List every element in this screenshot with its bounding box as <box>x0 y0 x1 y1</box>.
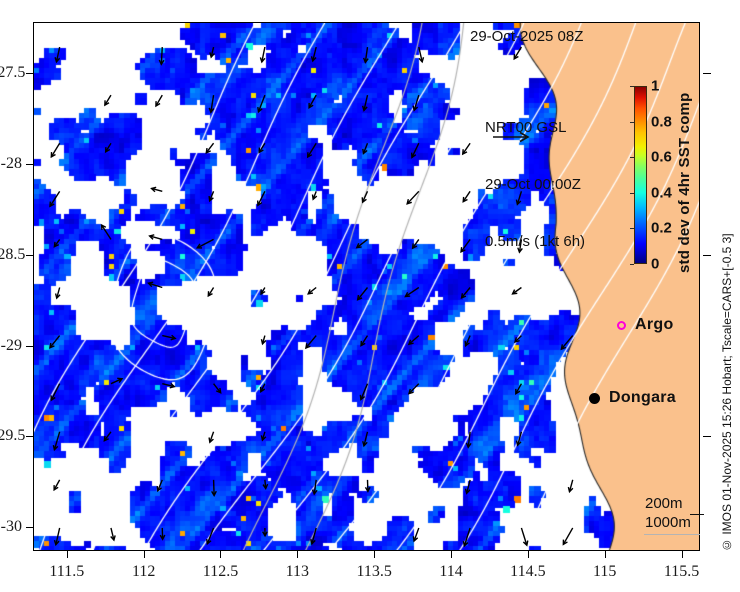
current-vector <box>312 47 317 61</box>
colorbar-tick-label: 1 <box>651 78 659 95</box>
x-tick-label: 115.5 <box>664 563 699 581</box>
x-tick <box>144 551 145 558</box>
x-tick <box>605 551 606 558</box>
current-vector <box>363 143 368 153</box>
current-vector <box>357 239 368 247</box>
current-vector <box>157 480 162 491</box>
current-vector <box>160 528 165 539</box>
colorbar-gradient <box>634 86 647 264</box>
current-vector <box>104 432 111 441</box>
current-vector <box>50 191 60 206</box>
colorbar: 10.80.60.40.20 std dev of 4hr SST comp <box>630 80 700 275</box>
map-plot-area[interactable] <box>33 22 700 551</box>
colorbar-tick <box>630 86 634 87</box>
current-vector <box>209 95 214 112</box>
current-vector <box>210 47 214 57</box>
current-vector <box>409 336 419 345</box>
current-vector <box>413 528 418 541</box>
current-vector <box>465 480 470 493</box>
current-vector <box>516 384 522 394</box>
current-vector <box>106 143 111 152</box>
current-vector <box>263 480 268 489</box>
current-vector <box>365 480 370 492</box>
colorbar-tick <box>630 264 634 265</box>
current-vector <box>261 336 265 344</box>
colorbar-tick <box>630 122 634 123</box>
current-vector <box>413 95 419 110</box>
current-vector <box>207 528 214 544</box>
current-vector <box>152 187 163 191</box>
current-vector <box>212 480 217 496</box>
current-vector <box>159 47 164 64</box>
current-vector <box>261 288 265 295</box>
current-vector <box>258 191 265 205</box>
current-vector <box>363 432 368 446</box>
current-vector <box>405 288 418 297</box>
current-vector <box>51 384 60 401</box>
current-vector <box>111 378 122 383</box>
current-vector <box>563 528 572 544</box>
current-vector <box>50 336 60 348</box>
right-tick <box>703 436 711 437</box>
current-vector <box>308 143 316 157</box>
y-tick-label: -28 <box>0 155 22 173</box>
current-vector <box>55 47 60 62</box>
current-vector <box>361 336 367 346</box>
current-vector <box>362 191 367 202</box>
colorbar-tick-label: 0.6 <box>651 149 672 166</box>
current-vector <box>162 335 175 340</box>
current-vector <box>259 143 265 152</box>
current-vector <box>308 288 316 294</box>
current-vector <box>363 95 368 110</box>
y-tick <box>26 527 33 528</box>
x-tick-label: 112 <box>132 563 155 581</box>
colorbar-tick <box>630 228 634 229</box>
current-vector <box>51 143 59 157</box>
current-time-label: 29-Oct 00:00Z <box>485 175 585 194</box>
current-vector <box>162 383 174 387</box>
x-tick <box>67 551 68 558</box>
current-vector <box>409 384 419 394</box>
current-vector <box>261 432 265 440</box>
x-tick-label: 113 <box>286 563 309 581</box>
right-tick <box>703 255 711 256</box>
y-tick-label: -28.5 <box>0 246 22 264</box>
y-tick-label: -29 <box>0 337 22 355</box>
x-tick <box>220 551 221 558</box>
y-tick <box>26 255 33 256</box>
current-vector <box>313 191 317 199</box>
current-vector <box>56 288 60 299</box>
right-tick <box>703 73 711 74</box>
x-tick-label: 114.5 <box>510 563 545 581</box>
current-vector <box>156 95 162 106</box>
y-tick-label: -29.5 <box>0 427 22 445</box>
current-vector <box>214 384 221 393</box>
current-vector <box>209 432 214 443</box>
dongara-label: Dongara <box>609 389 676 407</box>
x-tick-label: 112.5 <box>203 563 238 581</box>
current-speed-label: 0.5m/s (1kt 6h) <box>485 232 585 251</box>
y-tick <box>26 346 33 347</box>
current-vector <box>412 143 419 157</box>
current-vector <box>568 480 572 492</box>
current-vector <box>517 432 522 445</box>
timestamp-label: 29-Oct-2025 08Z <box>470 28 583 45</box>
colorbar-tick-label: 0.2 <box>651 220 672 237</box>
current-vector <box>360 384 367 400</box>
current-vector <box>313 480 318 494</box>
current-vector <box>258 95 265 112</box>
depth-contour-legend: 200m 1000m <box>645 494 691 532</box>
current-vector <box>466 432 471 448</box>
current-vector <box>521 528 527 545</box>
colorbar-label: std dev of 4hr SST comp <box>676 77 693 273</box>
current-vector <box>261 384 265 392</box>
x-tick <box>451 551 452 558</box>
y-tick <box>26 436 33 437</box>
current-vector <box>111 528 115 540</box>
current-vector <box>209 191 213 201</box>
current-vector <box>463 191 470 201</box>
x-tick-label: 113.5 <box>356 563 391 581</box>
y-tick <box>26 164 33 165</box>
dongara-marker-icon <box>589 393 600 404</box>
x-tick <box>374 551 375 558</box>
credit-text: © IMOS 01-Nov-2025 15:26 Hobart; Tscale=… <box>720 100 734 552</box>
y-tick-label: -30 <box>0 518 22 536</box>
current-vector <box>407 191 419 203</box>
current-vector <box>148 282 162 287</box>
current-vector <box>364 47 369 62</box>
current-vector <box>150 235 163 240</box>
current-vector <box>561 336 572 350</box>
x-tick-label: 111.5 <box>49 563 84 581</box>
current-vector <box>311 528 316 544</box>
depth-200m-line <box>690 514 704 515</box>
x-tick <box>528 551 529 558</box>
colorbar-tick-label: 0.8 <box>651 113 672 130</box>
current-vector <box>102 225 111 239</box>
depth-1000m-label: 1000m <box>645 513 691 532</box>
figure-canvas: 111.5112112.5113113.5114114.5115115.5-27… <box>0 0 740 592</box>
x-tick-label: 115 <box>593 563 616 581</box>
current-vector <box>419 47 424 62</box>
x-tick <box>682 551 683 558</box>
current-vector-overlay <box>34 23 700 551</box>
current-vector <box>461 239 470 251</box>
depth-200m-label: 200m <box>645 494 691 513</box>
current-vector <box>309 95 316 108</box>
current-vector <box>263 528 268 536</box>
colorbar-tick <box>630 193 634 194</box>
current-vector <box>54 480 60 490</box>
argo-label: Argo <box>635 316 674 334</box>
colorbar-tick <box>630 157 634 158</box>
x-tick <box>297 551 298 558</box>
current-vector <box>462 288 471 298</box>
current-vector <box>306 336 316 348</box>
y-tick-label: -27.5 <box>0 64 22 82</box>
current-vector <box>358 288 368 300</box>
current-vector <box>413 239 419 248</box>
current-vector <box>105 95 111 105</box>
current-info-block: NRT00 GSL 29-Oct 00:00Z 0.5m/s (1kt 6h) <box>485 80 585 289</box>
reference-arrow-icon <box>492 130 536 144</box>
depth-1000m-line <box>644 534 700 535</box>
legend-dongara: Dongara <box>589 389 676 407</box>
current-vector <box>55 528 60 545</box>
current-vector <box>465 336 470 346</box>
current-vector <box>463 143 470 154</box>
current-vector <box>514 47 521 59</box>
current-vector <box>515 336 521 342</box>
argo-marker-icon <box>617 321 626 330</box>
colorbar-tick-label: 0 <box>651 256 659 273</box>
y-tick <box>26 73 33 74</box>
current-vector <box>208 288 213 296</box>
colorbar-tick-label: 0.4 <box>651 184 672 201</box>
legend-argo: Argo <box>617 316 674 334</box>
x-tick-label: 114 <box>439 563 462 581</box>
current-vector <box>54 239 59 246</box>
current-vector <box>206 143 213 153</box>
current-vector <box>197 239 213 248</box>
current-vector <box>53 432 59 450</box>
current-vector <box>260 47 265 62</box>
current-vector <box>463 528 470 546</box>
